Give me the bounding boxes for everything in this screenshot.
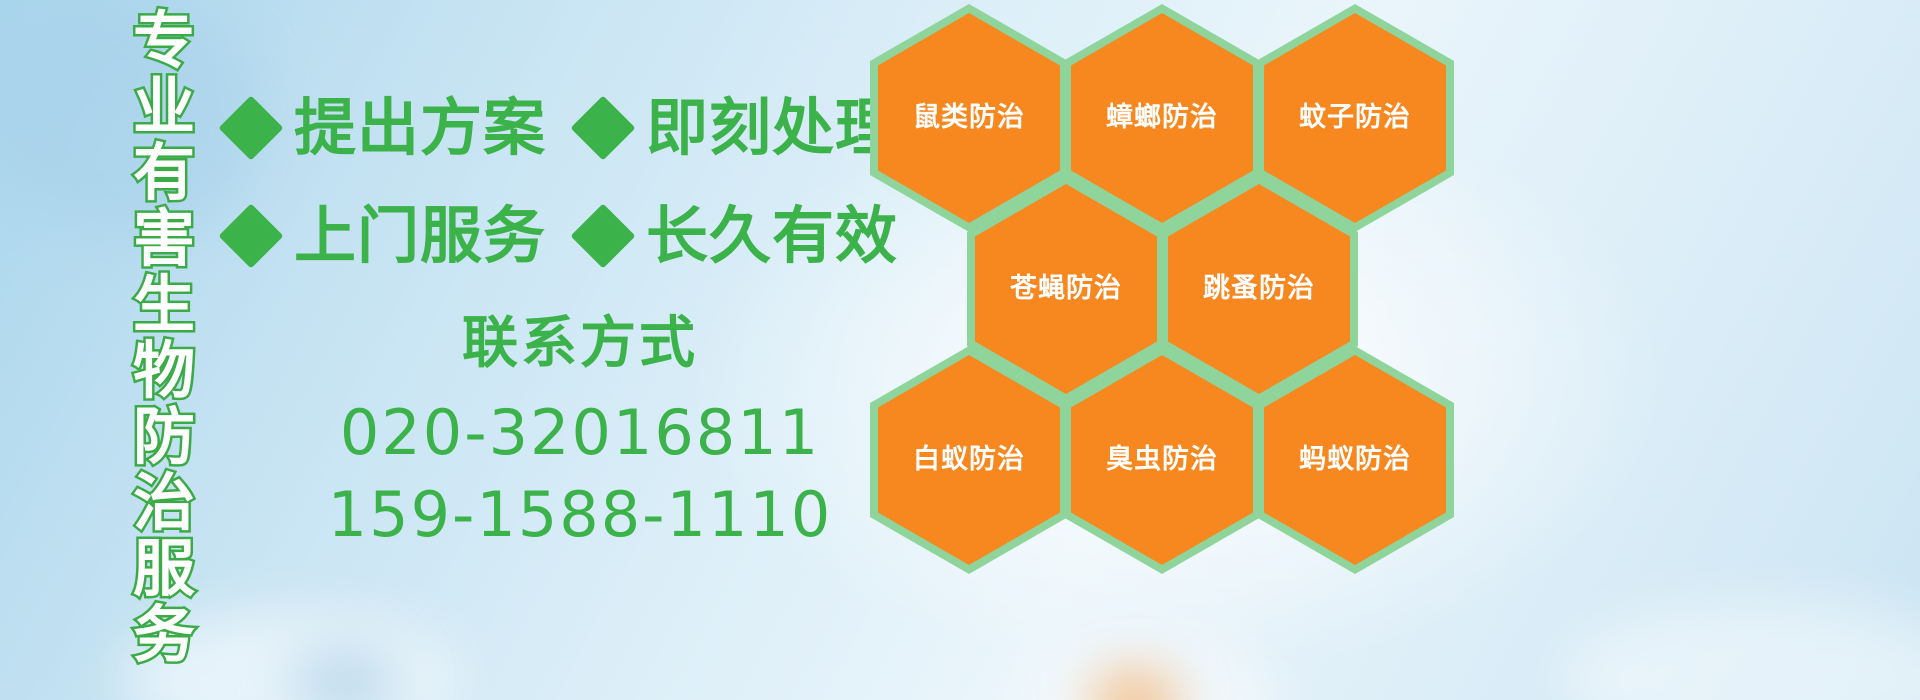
phone-number-landline[interactable]: 020-32016811 xyxy=(300,392,860,474)
vertical-headline: 专 业 有 害 生 物 防 治 服 务 xyxy=(108,8,220,698)
service-hex-inner: 臭虫防治 xyxy=(1071,355,1253,565)
service-hex-label: 蚂蚁防治 xyxy=(1299,445,1411,475)
service-hex-label: 苍蝇防治 xyxy=(1010,274,1122,304)
vertical-headline-char: 服 xyxy=(133,536,195,602)
vertical-headline-char: 治 xyxy=(133,470,195,536)
vertical-headline-char: 有 xyxy=(133,140,195,206)
service-hex-inner: 鼠类防治 xyxy=(878,13,1060,223)
vertical-headline-char: 业 xyxy=(133,74,195,140)
feature-row: 提出方案 即刻处理 xyxy=(228,74,868,182)
background-blur-blob xyxy=(1560,600,1920,700)
service-hex-inner: 跳蚤防治 xyxy=(1168,184,1350,394)
service-hex-label: 蚊子防治 xyxy=(1299,103,1411,133)
service-hex-label: 鼠类防治 xyxy=(913,103,1025,133)
vertical-headline-char: 专 xyxy=(133,8,195,74)
vertical-headline-char: 生 xyxy=(133,272,195,338)
contact-block: 联系方式 020-32016811 159-1588-1110 xyxy=(300,312,860,556)
feature-list: 提出方案 即刻处理 上门服务 长久有效 xyxy=(228,74,868,290)
feature-item: 上门服务 xyxy=(228,205,546,267)
service-hex-label: 蟑螂防治 xyxy=(1106,103,1218,133)
vertical-headline-char: 物 xyxy=(133,338,195,404)
feature-row: 上门服务 长久有效 xyxy=(228,182,868,290)
service-hex-inner: 苍蝇防治 xyxy=(975,184,1157,394)
service-hex-inner: 蚂蚁防治 xyxy=(1264,355,1446,565)
diamond-bullet-icon xyxy=(570,203,635,268)
service-hex-inner: 白蚁防治 xyxy=(878,355,1060,565)
service-hex-label: 跳蚤防治 xyxy=(1203,274,1315,304)
contact-title: 联系方式 xyxy=(300,312,860,376)
phone-number-mobile[interactable]: 159-1588-1110 xyxy=(300,474,860,556)
promo-banner: 专 业 有 害 生 物 防 治 服 务 提出方案 即刻处理 上门服务 xyxy=(0,0,1920,700)
diamond-bullet-icon xyxy=(218,203,283,268)
feature-item: 提出方案 xyxy=(228,97,546,159)
vertical-headline-char: 务 xyxy=(133,602,195,668)
vertical-headline-char: 害 xyxy=(133,206,195,272)
service-hex-label: 臭虫防治 xyxy=(1106,445,1218,475)
background-blur-blob xyxy=(290,648,400,700)
feature-label: 提出方案 xyxy=(294,97,546,159)
service-hex-label: 白蚁防治 xyxy=(913,445,1025,475)
diamond-bullet-icon xyxy=(570,95,635,160)
service-honeycomb: 鼠类防治 蟑螂防治 蚊子防治 苍蝇防治 跳蚤防治 白蚁防治 xyxy=(862,0,1462,700)
service-hex-inner: 蟑螂防治 xyxy=(1071,13,1253,223)
service-hex-inner: 蚊子防治 xyxy=(1264,13,1446,223)
feature-label: 即刻处理 xyxy=(646,97,898,159)
vertical-headline-char: 防 xyxy=(133,404,195,470)
feature-item: 即刻处理 xyxy=(580,97,898,159)
feature-label: 上门服务 xyxy=(294,205,546,267)
feature-item: 长久有效 xyxy=(580,205,898,267)
diamond-bullet-icon xyxy=(218,95,283,160)
feature-label: 长久有效 xyxy=(646,205,898,267)
